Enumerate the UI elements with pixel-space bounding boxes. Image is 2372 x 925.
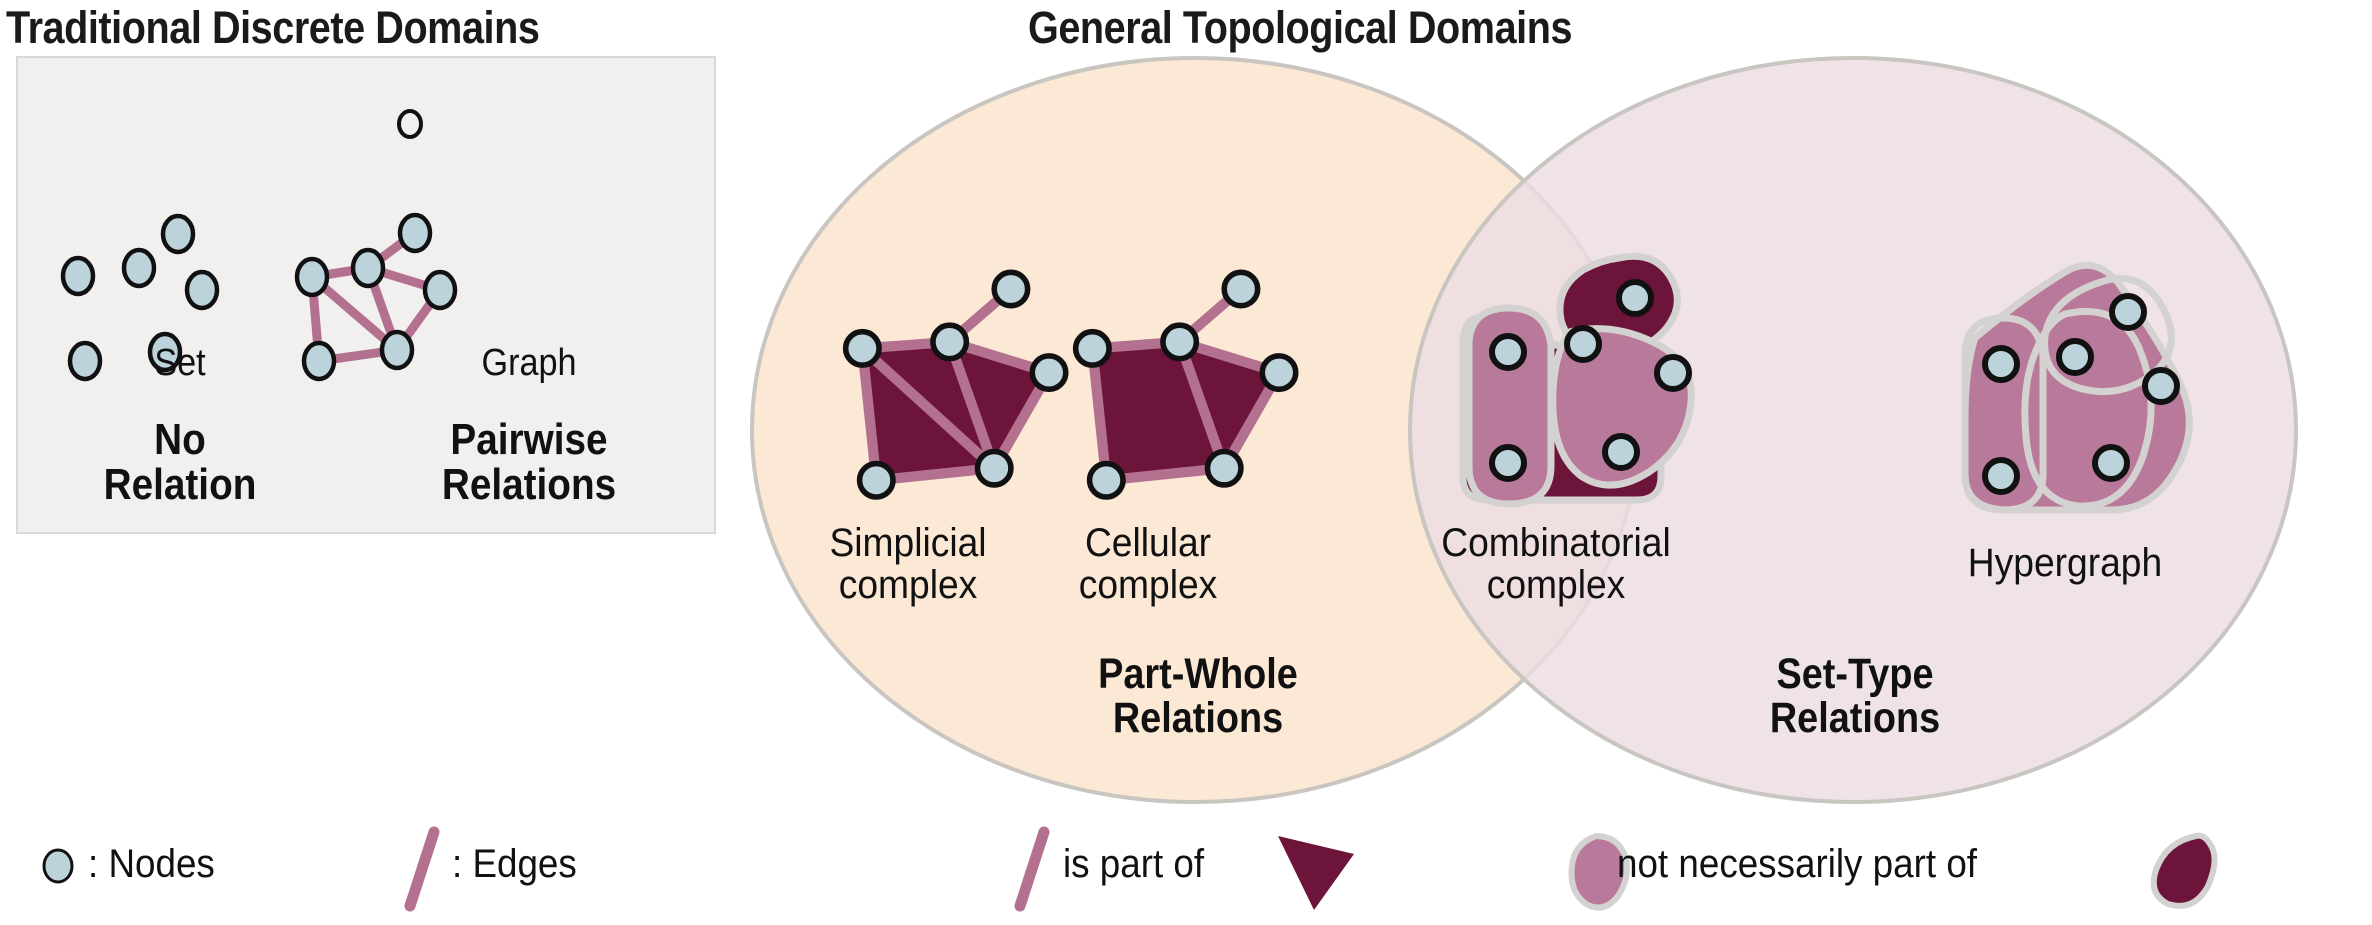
left-panel-title: Traditional Discrete Domains [6,2,539,54]
combinatorial-line1: Combinatorial [1441,522,1671,564]
node-circle-icon [1208,452,1241,485]
node-circle-icon [1567,328,1599,360]
node-circle-icon [38,846,78,886]
node-circle-icon [1224,272,1257,305]
node-circle-icon [304,343,334,379]
node-circle-icon [978,452,1011,485]
node-circle-icon [1492,336,1524,368]
node-circle-icon [1985,460,2017,492]
node-circle-icon [297,259,327,295]
set-type-line2: Relations [1770,696,1940,740]
combinatorial-line2: complex [1441,564,1671,606]
outline-node-marker-icon [399,111,421,137]
part-whole-relations-label: Part-Whole Relations [1085,652,1312,741]
legend-edges-label: : Edges [452,842,577,887]
part-whole-line2: Relations [1098,696,1298,740]
hypergraph-label: Hypergraph [1960,542,2169,584]
node-circle-icon [2095,447,2127,479]
part-whole-line1: Part-Whole [1098,652,1298,696]
graph-label: Graph [481,342,576,385]
dark-blob-icon [2140,828,2226,914]
figure-root: Traditional Discrete Domains General Top… [0,0,2372,925]
simplicial-complex-label: Simplicial complex [824,522,993,607]
node-circle-icon [1090,464,1123,497]
node-circle-icon [2112,296,2144,328]
node-circle-icon [425,272,455,308]
node-circle-icon [1605,436,1637,468]
set-relation-line1: No [104,418,257,463]
simplicial-line2: complex [829,564,986,606]
node-circle-icon [1619,282,1651,314]
set-type-relations-label: Set-Type Relations [1758,652,1952,741]
edge-line-icon [398,826,448,912]
graph-relation-label: Pairwise Relations [430,418,628,508]
node-circle-icon [1262,356,1295,389]
set-relation-label: No Relation [93,418,267,508]
set-type-line1: Set-Type [1770,652,1940,696]
node-circle-icon [2059,341,2091,373]
cellular-complex-diagram [1010,250,1340,510]
hypergraph-diagram [1905,250,2245,530]
node-circle-icon [382,332,412,368]
node-circle-icon [1492,447,1524,479]
node-circle-icon [1657,357,1689,389]
node-circle-icon [70,343,100,379]
node-circle-icon [163,216,193,252]
node-circle-icon [1076,332,1109,365]
node-circle-icon [846,332,879,365]
node-circle-icon [124,250,154,286]
node-circle-icon [63,258,93,294]
cellular-complex-label: Cellular complex [1074,522,1223,607]
node-circle-icon [1985,348,2017,380]
node-circle-icon [860,464,893,497]
node-circle-icon [933,325,966,358]
cellular-line2: complex [1079,564,1218,606]
hypergraph-line1: Hypergraph [1968,542,2162,584]
dark-triangle-icon [1274,828,1360,914]
node-circle-icon [187,272,217,308]
node-circle-icon [1163,325,1196,358]
combinatorial-complex-diagram [1395,240,1735,520]
node-circle-icon [2145,370,2177,402]
graph-relation-line2: Relations [442,463,616,508]
legend-is-part-of-label: is part of [1063,842,1204,887]
legend-nodes-label: : Nodes [88,842,215,887]
simplicial-line1: Simplicial [829,522,986,564]
node-circle-icon [400,215,430,251]
edge-line-icon [1008,826,1058,912]
cellular-line1: Cellular [1079,522,1218,564]
set-relation-line2: Relation [104,463,257,508]
right-panel-title: General Topological Domains [1028,2,1572,54]
combinatorial-complex-label: Combinatorial complex [1433,522,1680,607]
legend-not-necessarily-part-of-label: not necessarily part of [1617,842,1977,887]
node-circle-icon [353,250,383,286]
set-label: Set [154,342,205,385]
graph-relation-line1: Pairwise [442,418,616,463]
